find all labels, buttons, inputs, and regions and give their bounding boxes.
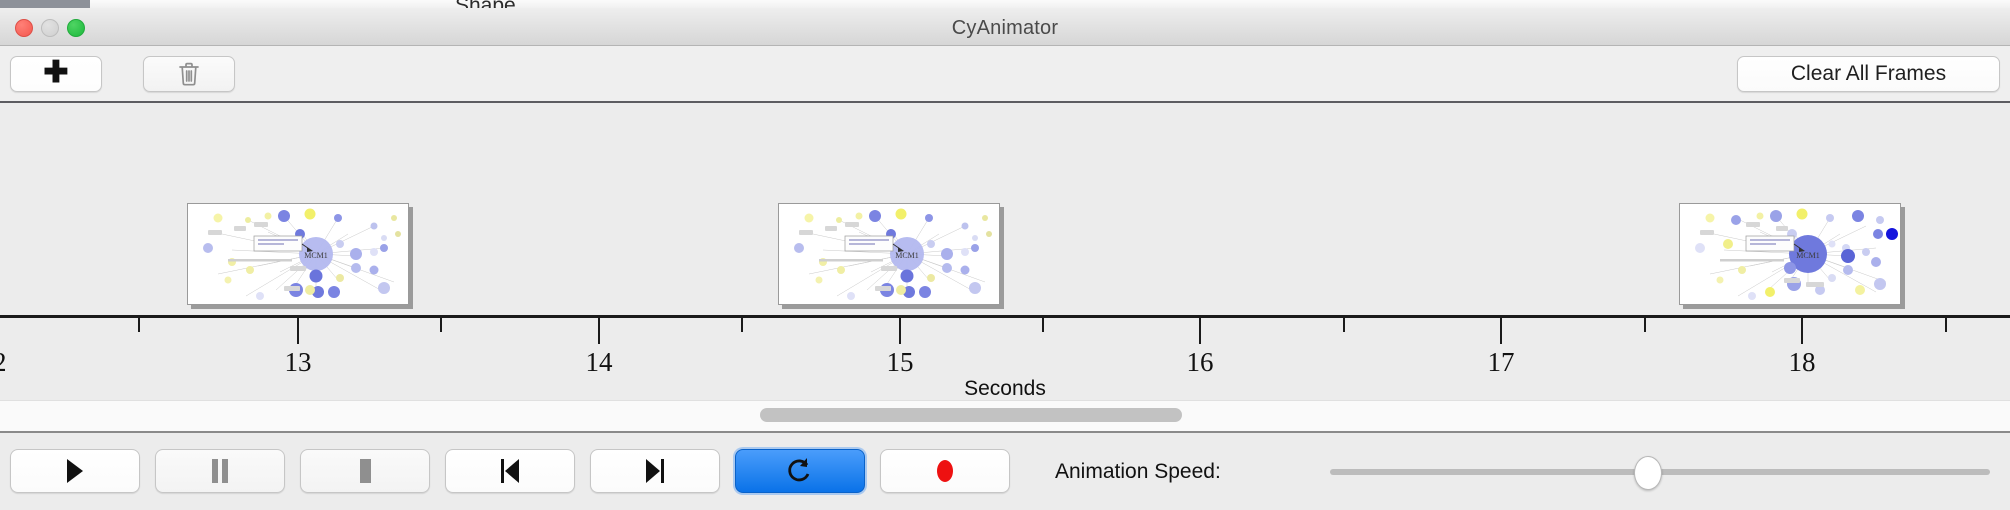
window-titlebar: CyAnimator	[0, 8, 2010, 46]
play-icon	[64, 458, 86, 484]
skip-to-start-button[interactable]	[445, 449, 575, 493]
ruler-tick-major	[297, 318, 299, 344]
ruler-tick-major	[1801, 318, 1803, 344]
svg-text:MCM1: MCM1	[1796, 251, 1820, 260]
ruler-tick-label: 13	[285, 347, 312, 378]
animation-speed-slider[interactable]	[1330, 469, 1990, 475]
animation-speed-label: Animation Speed:	[1055, 460, 1221, 484]
record-icon	[933, 457, 957, 485]
ruler-tick-minor	[1042, 318, 1044, 332]
ruler-tick-minor	[1945, 318, 1947, 332]
ruler-tick-label: 17	[1488, 347, 1515, 378]
ruler-tick-minor	[440, 318, 442, 332]
ruler-tick-minor	[1644, 318, 1646, 332]
network-preview-dark: MCM1	[1680, 204, 1900, 304]
add-frame-button[interactable]: ✚	[10, 56, 102, 92]
loop-button[interactable]	[735, 449, 865, 493]
svg-text:MCM1: MCM1	[895, 251, 919, 260]
window-title: CyAnimator	[0, 17, 2010, 40]
frame-thumbnail[interactable]: MCM1	[187, 203, 409, 305]
scrollbar-thumb[interactable]	[760, 408, 1182, 422]
trash-icon	[177, 60, 201, 88]
ruler-tick-major	[1500, 318, 1502, 344]
ruler-tick-label: 16	[1187, 347, 1214, 378]
playback-controls: Animation Speed:	[0, 433, 2010, 510]
ruler-tick-label: 15	[887, 347, 914, 378]
ruler-baseline	[0, 315, 2010, 318]
ruler-tick-label: 18	[1789, 347, 1816, 378]
ruler-tick-major	[598, 318, 600, 344]
pause-button[interactable]	[155, 449, 285, 493]
frame-thumbnail[interactable]: MCM1	[778, 203, 1000, 305]
ruler-tick-label: 14	[586, 347, 613, 378]
frame-thumbnail[interactable]: MCM1	[1679, 203, 1901, 305]
animation-speed-thumb[interactable]	[1634, 456, 1662, 490]
frames-timeline-panel[interactable]: MCM1	[0, 103, 2010, 400]
timeline-axis-label: Seconds	[0, 377, 2010, 400]
ruler-tick-minor	[741, 318, 743, 332]
ruler-tick-major	[1199, 318, 1201, 344]
plus-icon: ✚	[43, 58, 68, 88]
skip-to-end-button[interactable]	[590, 449, 720, 493]
clear-all-frames-button[interactable]: Clear All Frames	[1737, 56, 2000, 92]
loop-icon	[787, 457, 813, 485]
skip-back-icon	[497, 458, 523, 484]
delete-frame-button[interactable]	[143, 56, 235, 92]
timeline-ruler[interactable]: 12131415161718 Seconds	[0, 315, 2010, 400]
ruler-tick-minor	[1343, 318, 1345, 332]
svg-text:MCM1: MCM1	[304, 251, 328, 260]
network-preview-light: MCM1	[779, 204, 999, 304]
stop-button[interactable]	[300, 449, 430, 493]
frames-toolbar: ✚ Clear All Frames	[0, 46, 2010, 103]
skip-forward-icon	[642, 458, 668, 484]
record-button[interactable]	[880, 449, 1010, 493]
cyanimator-window: CyAnimator ✚ Clear All Frames	[0, 8, 2010, 510]
network-preview-light: MCM1	[188, 204, 408, 304]
stop-icon	[354, 458, 376, 484]
play-button[interactable]	[10, 449, 140, 493]
ruler-tick-minor	[138, 318, 140, 332]
pause-icon	[209, 458, 231, 484]
ruler-tick-major	[899, 318, 901, 344]
timeline-scrollbar[interactable]	[0, 400, 2010, 433]
ruler-tick-label: 12	[0, 347, 7, 378]
